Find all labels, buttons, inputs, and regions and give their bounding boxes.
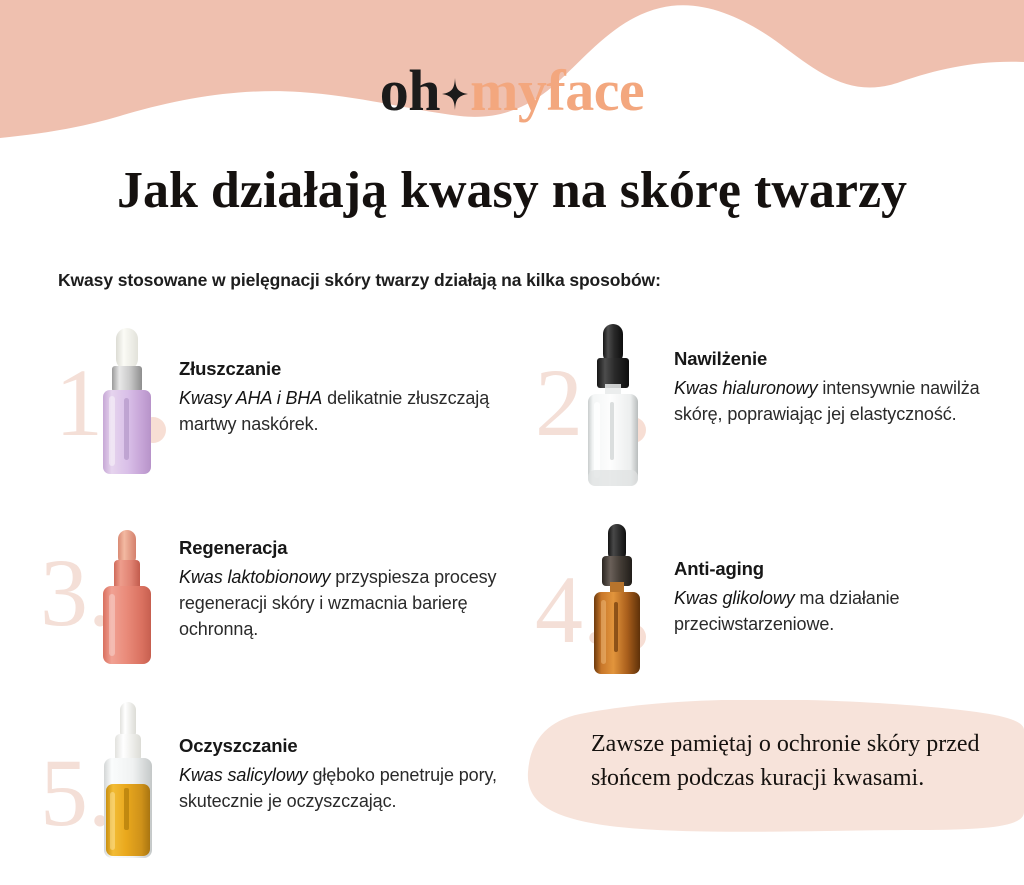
sparkle-icon [442,78,468,110]
item-emphasis-2: Kwas hialuronowy [674,378,817,398]
brand-logo: ohmyface [0,62,1024,120]
yellow-oil-dropper-bottle [96,702,160,867]
item-heading-4: Anti-aging [674,558,1004,580]
logo-text-myface: myface [470,58,644,123]
clear-glass-dropper-bottle [580,322,646,493]
item-description-2: Kwas hialuronowy intensywnie nawilża skó… [674,375,1004,427]
item-heading-1: Złuszczanie [179,358,499,380]
logo-text-oh: oh [380,58,440,123]
item-text-5: Oczyszczanie Kwas salicylowy głęboko pen… [179,735,519,814]
item-description-4: Kwas glikolowy ma działanie przeciwstarz… [674,585,1004,637]
item-emphasis-5: Kwas salicylowy [179,765,308,785]
item-text-2: Nawilżenie Kwas hialuronowy intensywnie … [674,348,1004,427]
page-title: Jak działają kwasy na skórę twarzy [0,162,1024,220]
item-emphasis-1: Kwasy AHA i BHA [179,388,322,408]
coral-frosted-bottle [95,528,159,673]
item-description-1: Kwasy AHA i BHA delikatnie złuszczają ma… [179,385,499,437]
item-heading-3: Regeneracja [179,537,519,559]
item-emphasis-4: Kwas glikolowy [674,588,795,608]
item-description-3: Kwas laktobionowy przyspiesza procesy re… [179,564,519,642]
item-heading-2: Nawilżenie [674,348,1004,370]
page-subtitle: Kwasy stosowane w pielęgnacji skóry twar… [58,270,978,291]
item-text-1: Złuszczanie Kwasy AHA i BHA delikatnie z… [179,358,499,437]
item-description-5: Kwas salicylowy głęboko penetruje pory, … [179,762,519,814]
lavender-serum-bottle [96,326,158,483]
item-text-3: Regeneracja Kwas laktobionowy przyspiesz… [179,537,519,642]
footer-note: Zawsze pamiętaj o ochronie skóry przed s… [591,727,991,795]
item-emphasis-3: Kwas laktobionowy [179,567,330,587]
item-heading-5: Oczyszczanie [179,735,519,757]
item-text-4: Anti-aging Kwas glikolowy ma działanie p… [674,558,1004,637]
amber-glass-dropper-bottle [586,522,648,682]
